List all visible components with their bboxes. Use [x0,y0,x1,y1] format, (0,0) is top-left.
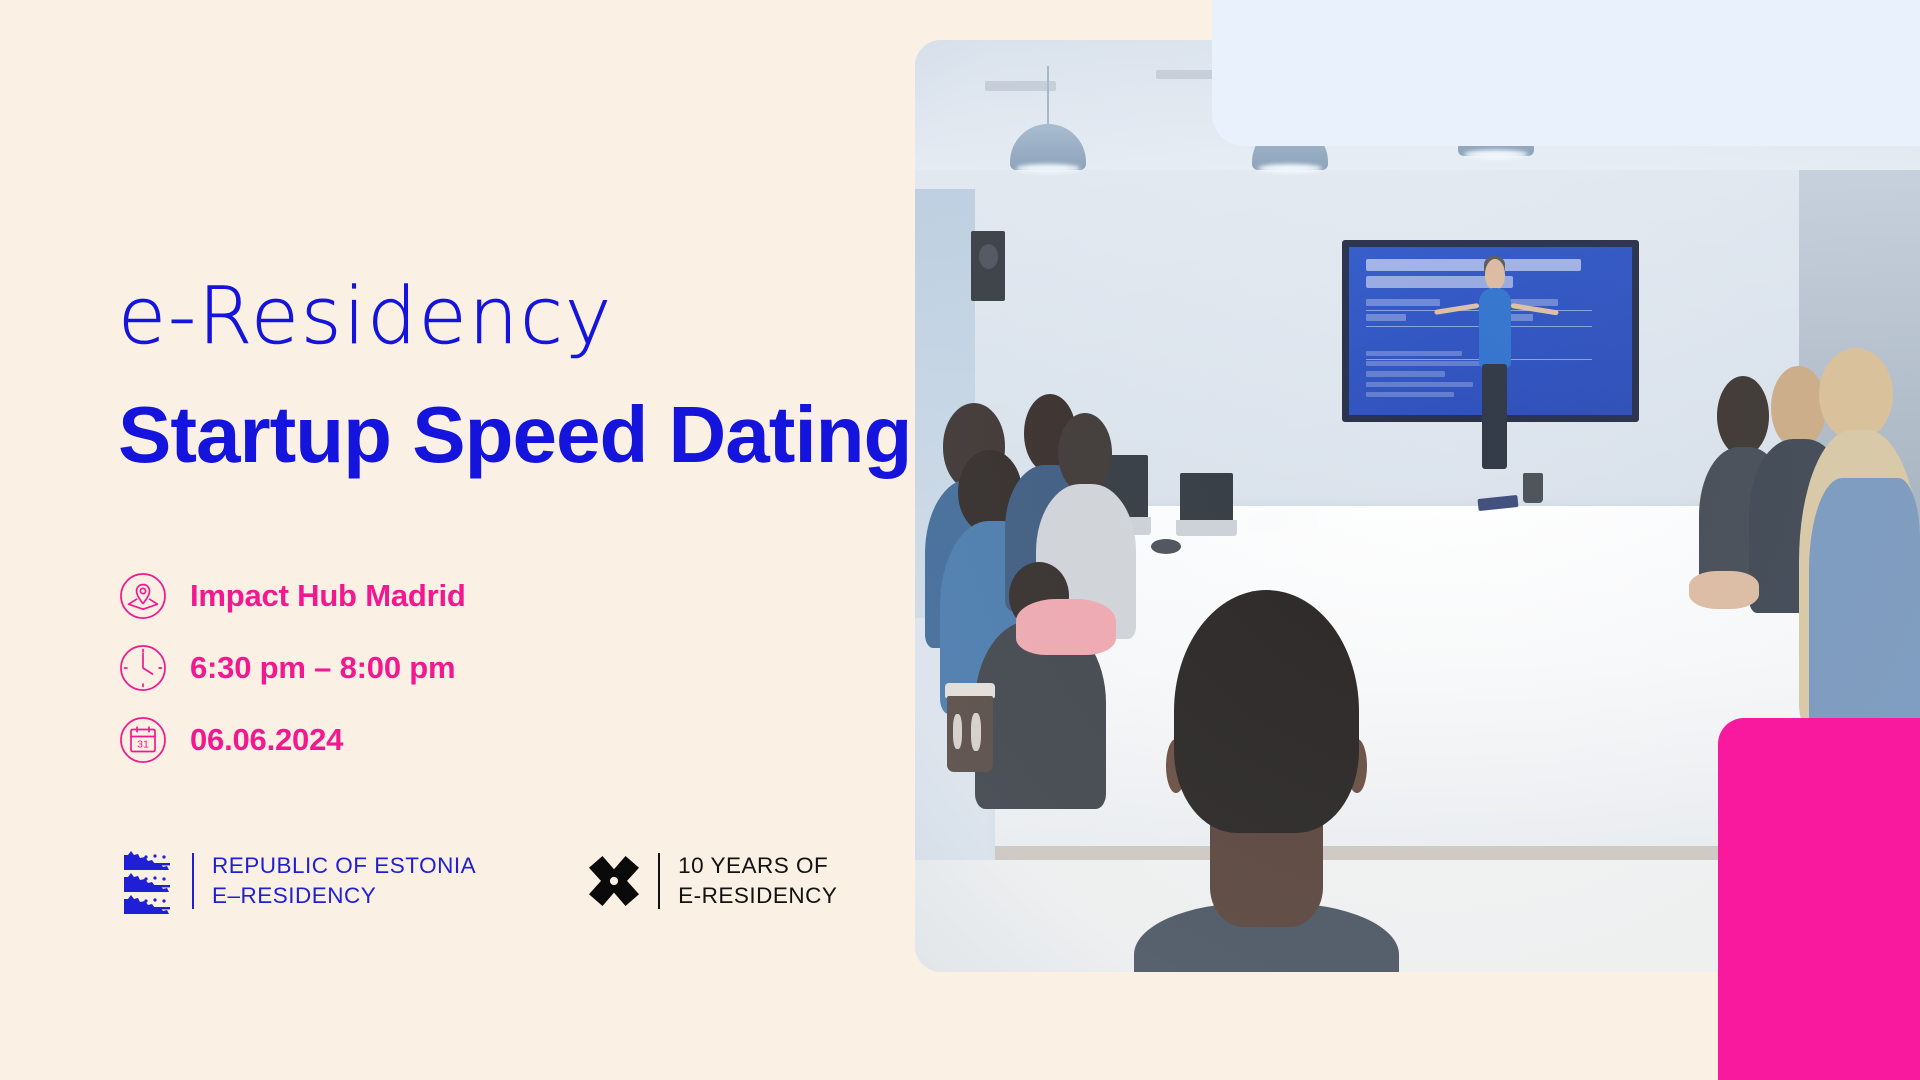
wall-speaker [971,231,1005,301]
slide-bullet [1366,371,1445,376]
x-mark-icon [586,853,642,909]
bottom-right-accent-block [1718,718,1920,1080]
anniversary-logo-line-1: 10 YEARS OF [678,853,828,878]
top-right-notch-shape [1212,0,1920,146]
conference-microphone [1151,539,1181,554]
detail-label-time: 6:30 pm – 8:00 pm [190,650,455,686]
laptop [1176,473,1236,538]
slide-bullet [1366,361,1490,366]
location-pin-icon [118,571,168,621]
slide-bullet [1366,351,1462,356]
estonia-logo-line-2: E–RESIDENCY [212,883,376,908]
logo-bar: REPUBLIC OF ESTONIA E–RESIDENCY 10 YEARS… [118,845,837,917]
estonia-coat-of-arms-icon [118,845,176,917]
estonia-logo-line-1: REPUBLIC OF ESTONIA [212,853,476,878]
clasped-hands [1689,571,1759,608]
slide-table-cell [1366,314,1406,321]
takeaway-coffee-cup [947,683,993,772]
slide-bullet [1366,392,1454,397]
pink-jacket [1016,599,1117,655]
detail-label-date: 06.06.2024 [190,722,343,758]
estonia-logo-lockup: REPUBLIC OF ESTONIA E–RESIDENCY [118,845,476,917]
event-details-list: Impact Hub Madrid 6:30 pm – 8:00 pm [118,560,466,776]
calendar-day-number: 31 [137,739,149,751]
calendar-icon: 31 [118,715,168,765]
detail-row-time: 6:30 pm – 8:00 pm [118,632,466,704]
anniversary-logo-line-2: E-RESIDENCY [678,883,837,908]
detail-row-location: Impact Hub Madrid [118,560,466,632]
anniversary-logo-lockup: 10 YEARS OF E-RESIDENCY [476,851,837,911]
left-content-column: e-Residency Startup Speed Dating Impact … [0,0,920,1080]
logo-divider [192,853,194,909]
eyebrow-title: e-Residency [118,278,613,356]
slide-table-cell [1366,299,1439,306]
presenter-person [1473,259,1517,469]
clock-icon [118,643,168,693]
foreground-person [1166,590,1367,972]
detail-row-date: 31 06.06.2024 [118,704,466,776]
audience-person [975,562,1106,804]
ceiling-vent [1156,70,1216,79]
anniversary-logo-divider [658,853,660,909]
anniversary-logo-text: 10 YEARS OF E-RESIDENCY [678,851,837,911]
slide-bullet [1366,382,1473,387]
estonia-logo-text: REPUBLIC OF ESTONIA E–RESIDENCY [212,851,476,911]
ceiling-vent [985,81,1055,91]
cup-on-table [1523,473,1543,503]
page-title: Startup Speed Dating [118,395,911,475]
detail-label-location: Impact Hub Madrid [190,578,466,614]
